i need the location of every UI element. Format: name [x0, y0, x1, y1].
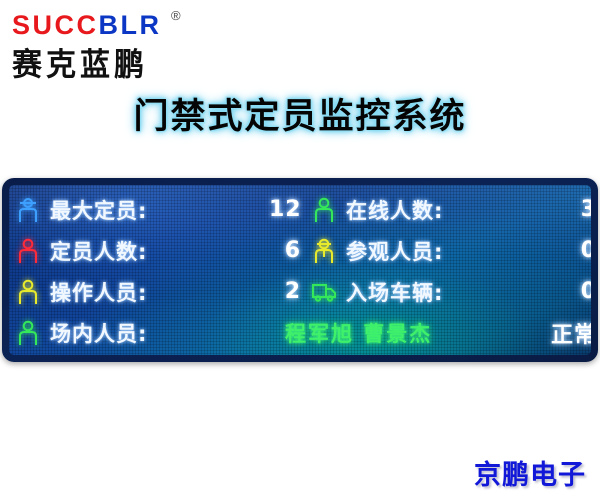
led-label: 最大定员: — [47, 195, 269, 225]
truck-icon — [305, 281, 343, 303]
person-icon — [305, 197, 343, 223]
person-helmet-icon — [9, 197, 47, 223]
footer-brand: 京鹏电子 — [474, 453, 586, 492]
led-label: 场内人员: — [47, 318, 269, 348]
led-label: 操作人员: — [47, 277, 269, 307]
person-icon — [9, 238, 47, 264]
page-title: 门禁式定员监控系统 — [0, 88, 600, 139]
led-display-panel: 最大定员: 12 在线人数: 3 — [2, 178, 598, 362]
led-roster-row: 场内人员: 程军旭 曹景杰 正常 — [9, 312, 591, 353]
led-value: 2 — [269, 279, 305, 304]
led-data-row: 最大定员: 12 在线人数: 3 — [9, 189, 591, 230]
led-data-row: 操作人员: 2 入场车辆: 0 — [9, 271, 591, 312]
led-data-row: 定员人数: 6 参观人员: 0 — [9, 230, 591, 271]
led-value: 3 — [565, 197, 591, 222]
company-logo: SUCCBLR ® 赛克蓝鹏 — [8, 6, 258, 76]
status-badge: 正常 — [529, 317, 591, 349]
led-label: 参观人员: — [343, 236, 565, 266]
person-hat-icon — [305, 238, 343, 264]
person-icon — [9, 320, 47, 346]
led-roster-names: 程军旭 曹景杰 — [269, 318, 529, 348]
led-rows: 最大定员: 12 在线人数: 3 — [9, 185, 591, 355]
screenshot-root: SUCCBLR ® 赛克蓝鹏 门禁式定员监控系统 — [0, 0, 600, 500]
logo-latin-wordmark: SUCCBLR — [12, 10, 162, 41]
logo-latin-part-red: SUCC — [12, 10, 99, 40]
led-label: 入场车辆: — [343, 277, 565, 307]
led-screen: 最大定员: 12 在线人数: 3 — [9, 185, 591, 355]
person-icon — [9, 279, 47, 305]
led-label: 在线人数: — [343, 195, 565, 225]
led-value: 0 — [565, 238, 591, 263]
led-value: 6 — [269, 238, 305, 263]
logo-latin-part-blue: BLR — [99, 10, 162, 40]
led-value: 0 — [565, 279, 591, 304]
led-label: 定员人数: — [47, 236, 269, 266]
logo-chinese-wordmark: 赛克蓝鹏 — [12, 38, 148, 84]
registered-trademark-icon: ® — [171, 9, 181, 22]
led-value: 12 — [269, 197, 305, 222]
